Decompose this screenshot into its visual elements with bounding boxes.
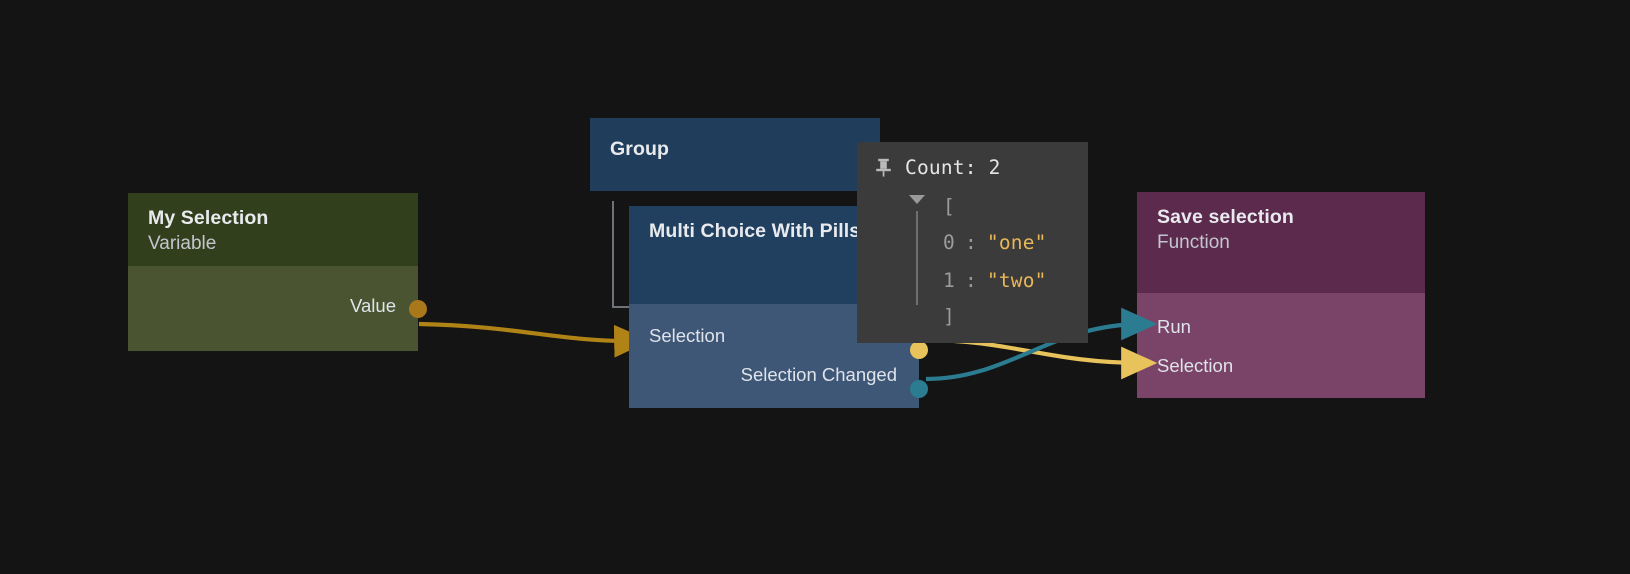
item-separator: :: [955, 269, 987, 292]
item-value: "two": [987, 269, 1047, 292]
input-label-selection: Selection: [1157, 355, 1233, 377]
inspector-tree: [ 0 : "one" 1 : "two" ]: [857, 189, 1088, 333]
triangle-down-icon[interactable]: [909, 195, 925, 204]
pin-icon[interactable]: [875, 158, 892, 177]
open-bracket-text: [: [943, 195, 955, 218]
tree-item[interactable]: 0 : "one": [905, 223, 1088, 261]
output-label-value: Value: [350, 295, 396, 317]
input-label-run: Run: [1157, 316, 1191, 338]
output-port-value[interactable]: [409, 300, 427, 318]
node-header[interactable]: Group: [590, 118, 880, 191]
input-row-run[interactable]: Run: [1137, 307, 1425, 346]
output-row-value[interactable]: Value: [128, 286, 418, 325]
node-save-selection[interactable]: Save selection Function Run Selection: [1137, 192, 1425, 398]
node-my-selection[interactable]: My Selection Variable Value: [128, 193, 418, 351]
output-label-selection-changed: Selection Changed: [741, 364, 897, 386]
node-header[interactable]: My Selection Variable: [128, 193, 418, 266]
input-label-selection: Selection: [649, 325, 725, 347]
item-index: 1: [943, 269, 955, 292]
node-header[interactable]: Save selection Function: [1137, 192, 1425, 293]
item-value: "one": [987, 231, 1047, 254]
close-bracket-text: ]: [943, 305, 955, 328]
node-title: Group: [610, 138, 860, 162]
tree-guide-line: [916, 211, 918, 305]
output-port-selection-changed[interactable]: [910, 380, 928, 398]
input-row-selection[interactable]: Selection: [1137, 346, 1425, 385]
tree-item[interactable]: 1 : "two": [905, 261, 1088, 299]
wire-selection-to-selection: [926, 340, 1143, 363]
node-subtitle: Function: [1157, 231, 1405, 256]
value-inspector-popup[interactable]: Count: 2 [ 0 : "one" 1 : "two" ]: [857, 142, 1088, 343]
node-subtitle: Variable: [148, 232, 398, 257]
tree-close-bracket: ]: [905, 299, 1088, 333]
node-graph-canvas[interactable]: My Selection Variable Value Group Multi …: [0, 0, 1630, 574]
item-separator: :: [955, 231, 987, 254]
node-title: Save selection: [1157, 206, 1405, 230]
output-row-selection-changed[interactable]: Selection Changed: [629, 355, 919, 394]
tree-open-bracket: [: [905, 189, 1088, 223]
inspector-header: Count: 2: [857, 154, 1088, 181]
output-port-selection[interactable]: [910, 341, 928, 359]
inspector-count-label: Count: 2: [905, 156, 1001, 179]
node-body: Value: [128, 266, 418, 351]
item-index: 0: [943, 231, 955, 254]
node-body: Run Selection: [1137, 293, 1425, 398]
node-group[interactable]: Group: [590, 118, 880, 191]
node-title: My Selection: [148, 207, 398, 231]
wire-value-to-selection: [419, 324, 636, 341]
